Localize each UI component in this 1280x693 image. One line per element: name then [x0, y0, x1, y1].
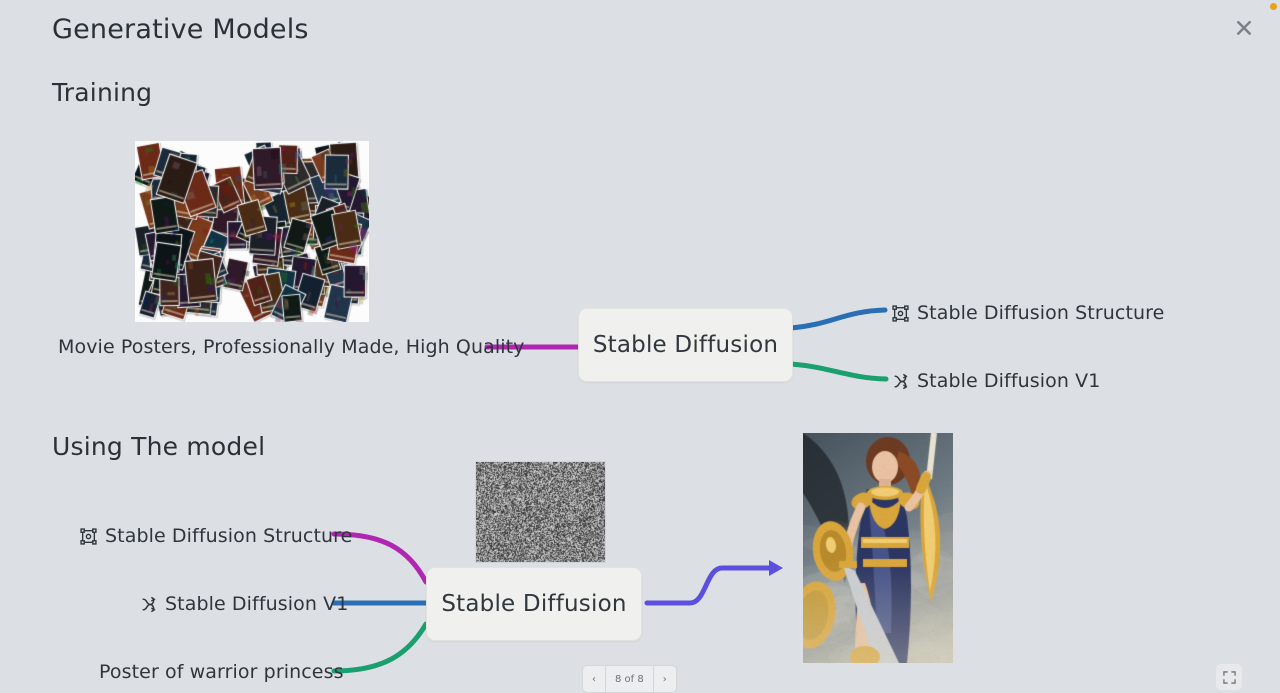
label-training-source-text: Movie Posters, Professionally Made, High… [58, 336, 525, 358]
shuffle-icon [139, 595, 157, 613]
label-input-v1-text: Stable Diffusion V1 [165, 593, 348, 615]
next-page-button[interactable]: › [653, 666, 676, 692]
close-icon[interactable]: ✕ [1230, 14, 1258, 42]
prev-page-button[interactable]: ‹ [583, 666, 605, 692]
pagination-control[interactable]: ‹ 8 of 8 › [582, 665, 677, 693]
label-input-v1[interactable]: Stable Diffusion V1 [139, 593, 348, 615]
status-dot [1270, 3, 1277, 10]
section-heading-training: Training [52, 78, 152, 107]
structure-icon [79, 527, 97, 545]
structure-icon [891, 304, 909, 322]
node-stable-diffusion-inference[interactable]: Stable Diffusion [426, 567, 642, 641]
label-output-v1-text: Stable Diffusion V1 [917, 370, 1100, 392]
fullscreen-icon[interactable] [1216, 664, 1242, 690]
node-stable-diffusion-training[interactable]: Stable Diffusion [578, 308, 793, 382]
page-indicator: 8 of 8 [605, 666, 653, 692]
warrior-princess-render-image [803, 433, 953, 663]
label-output-structure-text: Stable Diffusion Structure [917, 302, 1164, 324]
movie-poster-collage-image [135, 141, 369, 322]
section-heading-using: Using The model [52, 432, 265, 461]
label-input-structure[interactable]: Stable Diffusion Structure [79, 525, 352, 547]
label-output-structure[interactable]: Stable Diffusion Structure [891, 302, 1164, 324]
label-output-v1[interactable]: Stable Diffusion V1 [891, 370, 1100, 392]
page-title: Generative Models [52, 14, 309, 45]
shuffle-icon [891, 372, 909, 390]
label-input-prompt: Poster of warrior princess [99, 661, 344, 683]
label-input-structure-text: Stable Diffusion Structure [105, 525, 352, 547]
label-input-prompt-text: Poster of warrior princess [99, 661, 344, 683]
label-training-source: Movie Posters, Professionally Made, High… [58, 336, 525, 358]
gaussian-noise-latent-image [475, 461, 606, 563]
